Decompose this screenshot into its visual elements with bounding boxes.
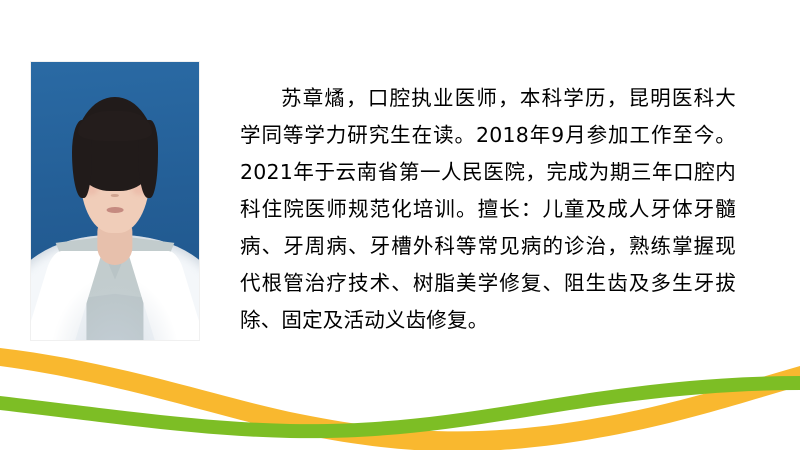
decorative-ribbon-waves (0, 340, 800, 450)
doctor-portrait-photo (31, 62, 199, 340)
mouth (107, 207, 124, 213)
doctor-bio-paragraph: 苏章燏，口腔执业医师，本科学历，昆明医科大学同等学力研究生在读。2018年9月参… (240, 80, 736, 339)
orange-ribbon (0, 348, 800, 450)
coat-shading (41, 263, 189, 340)
hair-fringe (78, 111, 152, 142)
slide-canvas: 苏章燏，口腔执业医师，本科学历，昆明医科大学同等学力研究生在读。2018年9月参… (0, 0, 800, 450)
